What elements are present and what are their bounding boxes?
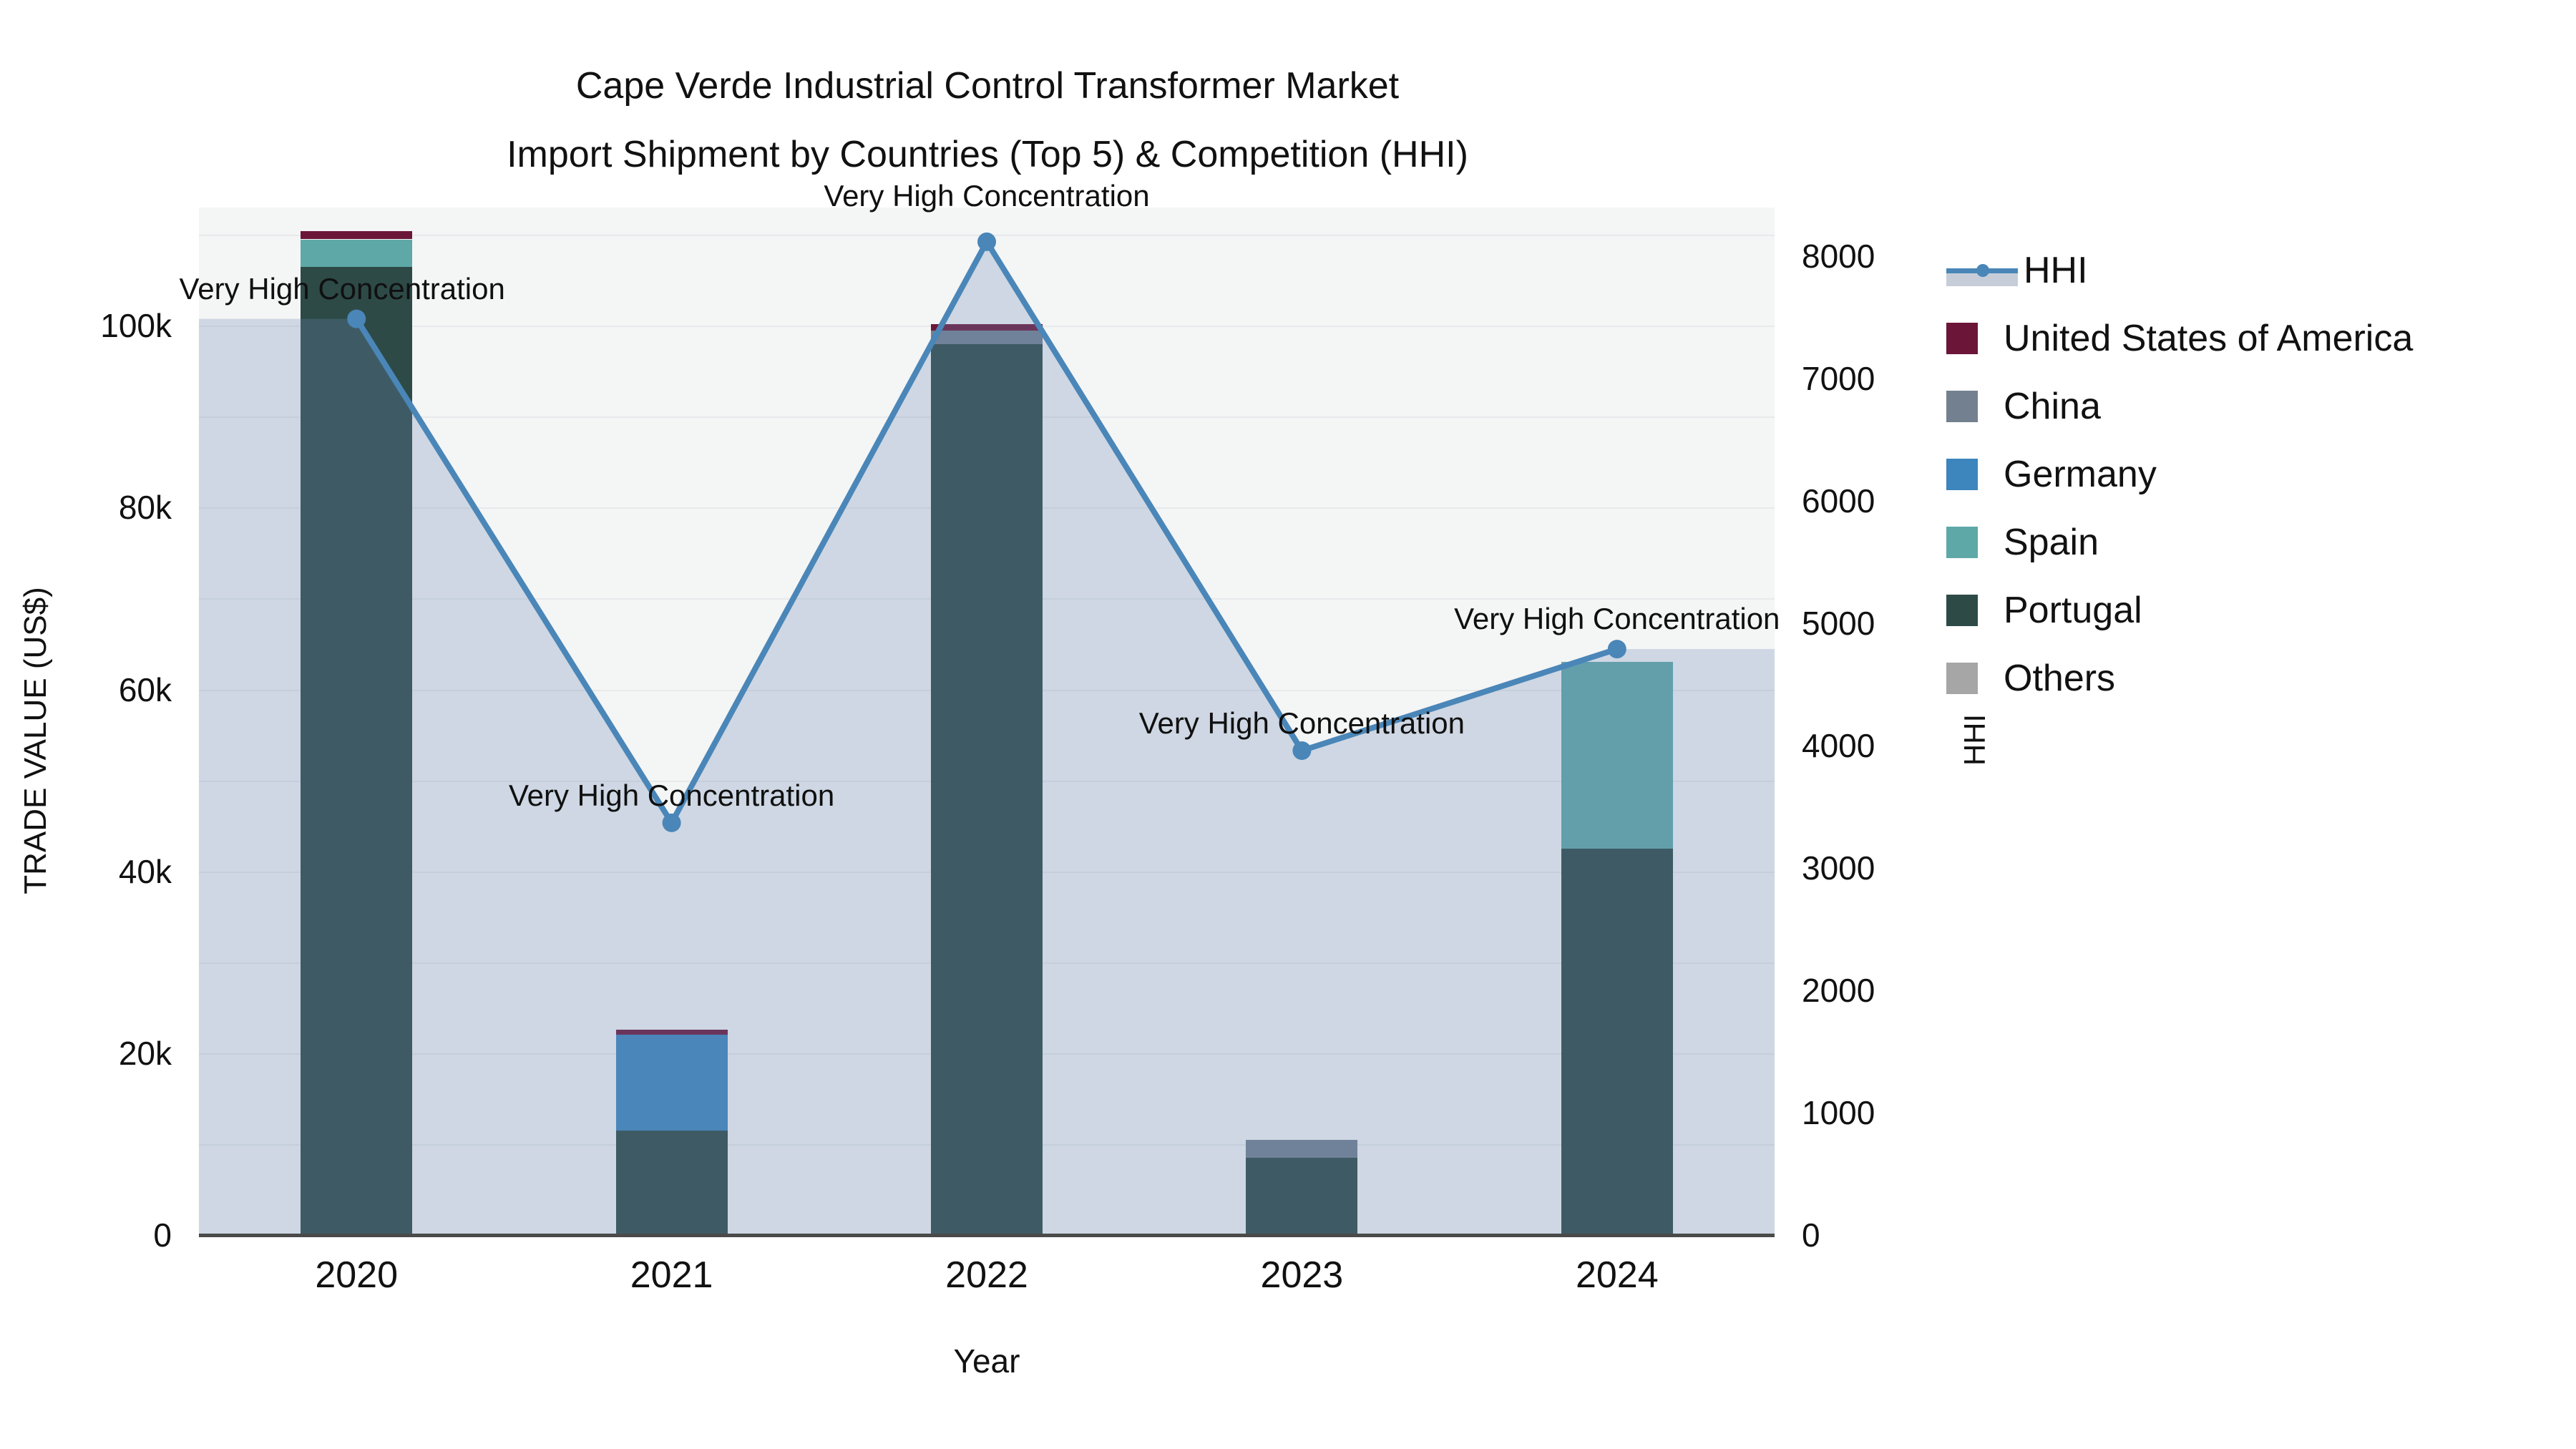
legend: HHIUnited States of AmericaChinaGermanyS…: [1946, 236, 2562, 712]
x-tick-2024: 2024: [1576, 1254, 1659, 1297]
x-axis-line: [199, 1234, 1775, 1237]
y-axis-left-title: TRADE VALUE (US$): [18, 555, 54, 927]
annotation-2020: Very High Concentration: [180, 272, 505, 306]
hhi-series: [199, 208, 1775, 1235]
x-tick-2021: 2021: [630, 1254, 713, 1297]
legend-swatch-icon: [1946, 459, 1978, 490]
y-tick-left-0: 0: [153, 1216, 172, 1254]
legend-item-others[interactable]: Others: [1946, 644, 2562, 712]
legend-item-spain[interactable]: Spain: [1946, 508, 2562, 576]
hhi-marker-2024[interactable]: [1608, 640, 1626, 658]
y-tick-left-40k: 40k: [119, 852, 172, 891]
legend-item-label: Others: [2004, 657, 2115, 700]
annotation-2022: Very High Concentration: [824, 179, 1149, 213]
x-tick-2023: 2023: [1261, 1254, 1344, 1297]
legend-item-hhi[interactable]: HHI: [1946, 236, 2562, 304]
y-tick-right-8000: 8000: [1802, 237, 1875, 275]
y-tick-right-4000: 4000: [1802, 726, 1875, 765]
x-tick-2020: 2020: [315, 1254, 398, 1297]
hhi-marker-2020[interactable]: [347, 310, 366, 328]
legend-swatch-icon: [1946, 663, 1978, 694]
y-tick-left-20k: 20k: [119, 1034, 172, 1073]
y-tick-right-5000: 5000: [1802, 604, 1875, 643]
legend-item-label: Portugal: [2004, 589, 2142, 632]
legend-swatch-icon: [1946, 323, 1978, 354]
legend-item-germany[interactable]: Germany: [1946, 440, 2562, 508]
chart-title-line-1: Cape Verde Industrial Control Transforme…: [0, 52, 1975, 120]
hhi-marker-2023[interactable]: [1292, 741, 1311, 760]
y-tick-left-100k: 100k: [100, 306, 172, 345]
legend-item-china[interactable]: China: [1946, 372, 2562, 440]
y-tick-right-2000: 2000: [1802, 971, 1875, 1010]
legend-item-label: United States of America: [2004, 317, 2413, 360]
legend-item-united-states-of-america[interactable]: United States of America: [1946, 304, 2562, 372]
y-tick-left-80k: 80k: [119, 488, 172, 527]
annotation-2023: Very High Concentration: [1139, 706, 1465, 741]
y-tick-right-7000: 7000: [1802, 359, 1875, 398]
legend-swatch-icon: [1946, 527, 1978, 558]
hhi-marker-2022[interactable]: [977, 233, 996, 251]
legend-line-marker-icon: [1946, 255, 2018, 286]
x-axis-title: Year: [199, 1342, 1775, 1380]
legend-swatch-icon: [1946, 595, 1978, 626]
chart-root: Cape Verde Industrial Control Transforme…: [0, 0, 2576, 1449]
y-tick-right-1000: 1000: [1802, 1093, 1875, 1132]
legend-item-label: Germany: [2004, 453, 2157, 496]
hhi-marker-2021[interactable]: [663, 814, 681, 832]
y-axis-right-ticks: 010002000300040005000600070008000: [1790, 0, 1976, 1449]
y-tick-right-0: 0: [1802, 1216, 1820, 1254]
legend-item-label: China: [2004, 385, 2101, 428]
legend-swatch-icon: [1946, 391, 1978, 422]
y-tick-right-3000: 3000: [1802, 849, 1875, 887]
hhi-area-fill: [199, 242, 1775, 1235]
x-tick-2022: 2022: [945, 1254, 1028, 1297]
legend-item-label: HHI: [2024, 249, 2088, 292]
annotation-2024: Very High Concentration: [1454, 602, 1780, 636]
chart-title: Cape Verde Industrial Control Transforme…: [0, 52, 1975, 189]
y-tick-right-6000: 6000: [1802, 482, 1875, 520]
legend-item-portugal[interactable]: Portugal: [1946, 576, 2562, 644]
y-tick-left-60k: 60k: [119, 670, 172, 709]
annotation-2021: Very High Concentration: [509, 779, 834, 813]
legend-item-label: Spain: [2004, 521, 2099, 564]
